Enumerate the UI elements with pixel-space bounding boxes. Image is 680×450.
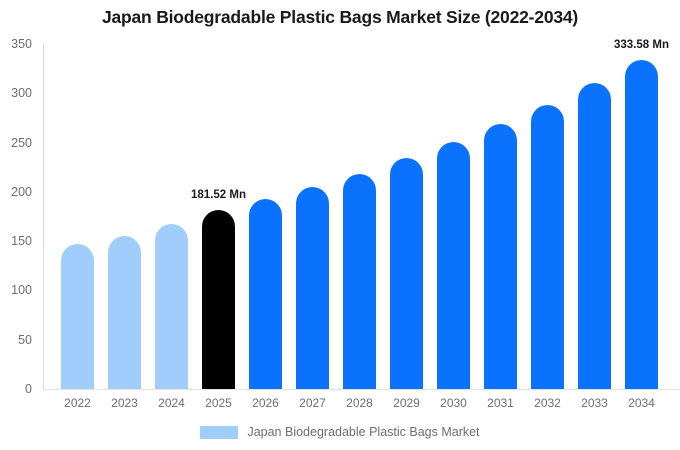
- x-axis-tick-label: 2034: [614, 396, 670, 410]
- bar-chart: Japan Biodegradable Plastic Bags Market …: [0, 0, 680, 450]
- y-axis-tick-label: 50: [0, 333, 32, 347]
- bar-2025[interactable]: [202, 210, 235, 389]
- bar-2028[interactable]: [343, 174, 376, 389]
- bar-2029[interactable]: [390, 158, 423, 389]
- bar-2026[interactable]: [249, 199, 282, 389]
- bar-2022[interactable]: [61, 244, 94, 389]
- legend-label: Japan Biodegradable Plastic Bags Market: [247, 425, 479, 439]
- legend-swatch-icon: [200, 426, 238, 439]
- y-axis-line: [43, 44, 44, 389]
- bar-2030[interactable]: [437, 142, 470, 389]
- x-axis-line: [43, 389, 680, 390]
- plot-area: 181.52 Mn333.58 Mn: [43, 44, 680, 389]
- bar-2023[interactable]: [108, 236, 141, 389]
- bar-2033[interactable]: [578, 83, 611, 389]
- y-axis-tick-label: 350: [0, 37, 32, 51]
- y-axis-tick-label: 0: [0, 382, 32, 396]
- bar-2034[interactable]: [625, 60, 658, 389]
- chart-title: Japan Biodegradable Plastic Bags Market …: [0, 7, 680, 28]
- bar-2024[interactable]: [155, 224, 188, 389]
- y-axis-tick-label: 150: [0, 234, 32, 248]
- y-axis-tick-label: 200: [0, 185, 32, 199]
- bar-2031[interactable]: [484, 124, 517, 389]
- bar-2032[interactable]: [531, 105, 564, 389]
- y-axis-tick-label: 100: [0, 283, 32, 297]
- y-axis-tick-label: 300: [0, 86, 32, 100]
- bar-2027[interactable]: [296, 187, 329, 389]
- bar-value-label-2025: 181.52 Mn: [191, 189, 246, 201]
- y-axis-tick-label: 250: [0, 136, 32, 150]
- chart-legend: Japan Biodegradable Plastic Bags Market: [0, 425, 680, 439]
- bar-value-label-2034: 333.58 Mn: [614, 39, 669, 51]
